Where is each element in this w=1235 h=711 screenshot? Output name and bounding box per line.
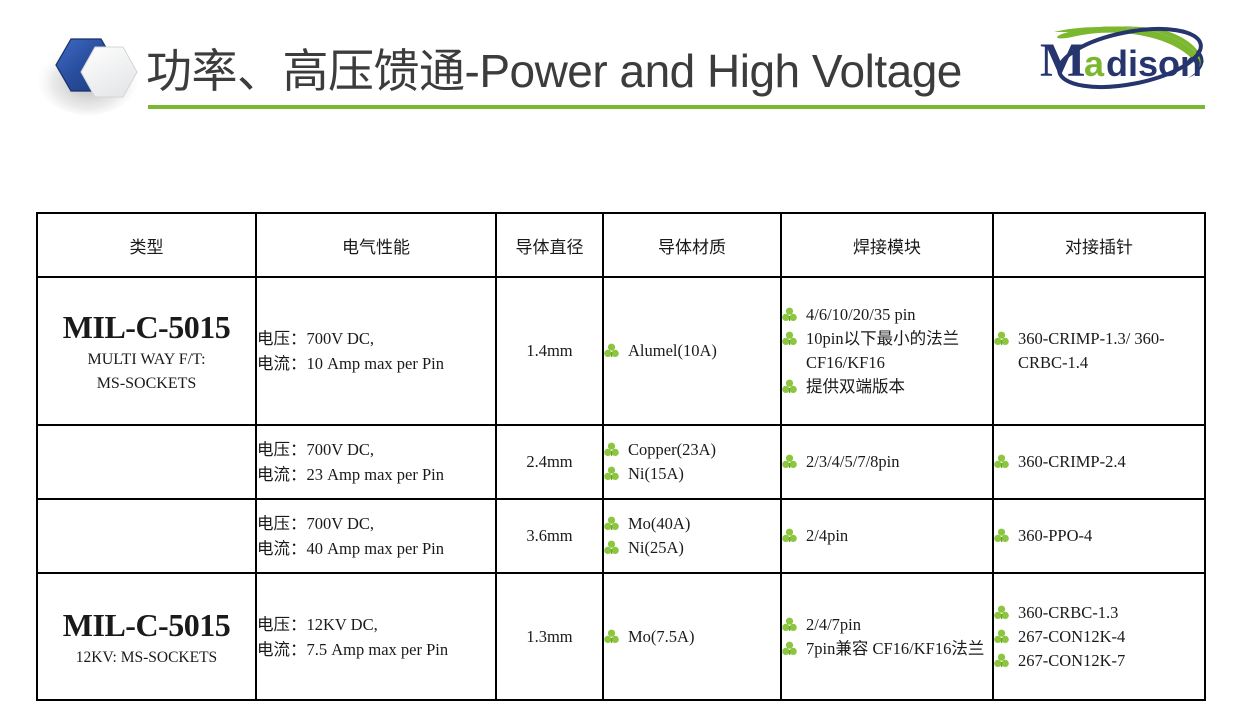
column-header-material: 导体材质	[603, 213, 781, 277]
clover-bullet-icon	[994, 653, 1009, 669]
list-item: Ni(25A)	[604, 536, 780, 560]
clover-bullet-icon	[782, 379, 797, 395]
voltage-value: 700V DC,	[307, 440, 375, 459]
clover-bullet-icon	[994, 605, 1009, 621]
type-subtitle-line1: 12KV: MS-SOCKETS	[38, 647, 255, 668]
voltage-label: 电压：	[257, 615, 307, 634]
clover-bullet-icon	[782, 641, 797, 657]
list-item: 2/4pin	[782, 524, 992, 548]
current-value: 23 Amp max per Pin	[307, 465, 445, 484]
list-item-text: Copper(23A)	[628, 438, 780, 462]
svg-text:dison: dison	[1106, 43, 1202, 84]
list-item-text: 7pin兼容 CF16/KF16法兰	[806, 637, 992, 661]
cell-diameter: 3.6mm	[496, 499, 603, 573]
table-header-row: 类型 电气性能 导体直径 导体材质 焊接模块 对接插针	[37, 213, 1205, 277]
list-item: 7pin兼容 CF16/KF16法兰	[782, 637, 992, 661]
slide-header: 功率、高压馈通-Power and High Voltage M a dison	[0, 0, 1235, 140]
cell-material: Alumel(10A)	[603, 277, 781, 425]
type-model: MIL-C-5015	[38, 606, 255, 644]
mating-pin-list: 360-PPO-4	[994, 524, 1204, 548]
list-item: 267-CON12K-4	[994, 625, 1204, 649]
material-list: Copper(23A) Ni(15A)	[604, 438, 780, 486]
weld-module-list: 2/4/7pin 7pin兼容 CF16/KF16法兰	[782, 613, 992, 661]
list-item-text: Ni(15A)	[628, 462, 780, 486]
current-label: 电流：	[257, 640, 307, 659]
svg-text:M: M	[1040, 34, 1085, 87]
list-item: Mo(40A)	[604, 512, 780, 536]
column-header-weld: 焊接模块	[781, 213, 993, 277]
list-item-text: 267-CON12K-7	[1018, 649, 1204, 673]
table-row: 电压：700V DC, 电流：23 Amp max per Pin 2.4mm …	[37, 425, 1205, 499]
cell-mating-pin: 360-CRBC-1.3 267-CON12K-4 267-CON12K-7	[993, 573, 1205, 700]
list-item: Ni(15A)	[604, 462, 780, 486]
material-list: Mo(7.5A)	[604, 625, 780, 649]
cell-weld-module: 2/3/4/5/7/8pin	[781, 425, 993, 499]
list-item-text: Ni(25A)	[628, 536, 780, 560]
list-item-text: 4/6/10/20/35 pin	[806, 303, 992, 327]
current-value: 40 Amp max per Pin	[307, 539, 445, 558]
cell-material: Copper(23A) Ni(15A)	[603, 425, 781, 499]
list-item-text: 360-PPO-4	[1018, 524, 1204, 548]
list-item: 10pin以下最小的法兰CF16/KF16	[782, 327, 992, 375]
list-item: 360-PPO-4	[994, 524, 1204, 548]
cell-weld-module: 4/6/10/20/35 pin 10pin以下最小的法兰CF16/KF16 提…	[781, 277, 993, 425]
list-item-text: 提供双端版本	[806, 375, 992, 399]
clover-bullet-icon	[782, 617, 797, 633]
cell-weld-module: 2/4pin	[781, 499, 993, 573]
list-item-text: 2/4/7pin	[806, 613, 992, 637]
mating-pin-list: 360-CRIMP-1.3/ 360-CRBC-1.4	[994, 327, 1204, 375]
material-list: Mo(40A) Ni(25A)	[604, 512, 780, 560]
type-model: MIL-C-5015	[38, 308, 255, 346]
table-row: MIL-C-5015 MULTI WAY F/T: MS-SOCKETS 电压：…	[37, 277, 1205, 425]
voltage-value: 700V DC,	[307, 514, 375, 533]
clover-bullet-icon	[782, 307, 797, 323]
list-item: 2/3/4/5/7/8pin	[782, 450, 992, 474]
clover-bullet-icon	[604, 343, 619, 359]
current-label: 电流：	[257, 354, 307, 373]
voltage-label: 电压：	[257, 329, 307, 348]
cell-electrical: 电压：700V DC, 电流：10 Amp max per Pin	[256, 277, 496, 425]
madison-brand-logo: M a dison	[1032, 22, 1210, 98]
voltage-line: 电压：700V DC,	[257, 326, 495, 351]
cell-electrical: 电压：12KV DC, 电流：7.5 Amp max per Pin	[256, 573, 496, 700]
list-item-text: 267-CON12K-4	[1018, 625, 1204, 649]
voltage-label: 电压：	[257, 514, 307, 533]
column-header-type: 类型	[37, 213, 256, 277]
hexagon-logo-icon	[38, 33, 148, 115]
current-line: 电流：40 Amp max per Pin	[257, 536, 495, 561]
list-item-text: 2/3/4/5/7/8pin	[806, 450, 992, 474]
voltage-line: 电压：700V DC,	[257, 437, 495, 462]
list-item-text: Alumel(10A)	[628, 339, 780, 363]
cell-material: Mo(7.5A)	[603, 573, 781, 700]
voltage-line: 电压：12KV DC,	[257, 612, 495, 637]
cell-diameter: 1.3mm	[496, 573, 603, 700]
list-item: Mo(7.5A)	[604, 625, 780, 649]
weld-module-list: 4/6/10/20/35 pin 10pin以下最小的法兰CF16/KF16 提…	[782, 303, 992, 399]
cell-diameter: 2.4mm	[496, 425, 603, 499]
weld-module-list: 2/4pin	[782, 524, 992, 548]
list-item-text: 2/4pin	[806, 524, 992, 548]
clover-bullet-icon	[994, 528, 1009, 544]
material-list: Alumel(10A)	[604, 339, 780, 363]
clover-bullet-icon	[782, 331, 797, 347]
list-item: 提供双端版本	[782, 375, 992, 399]
clover-bullet-icon	[604, 466, 619, 482]
cell-mating-pin: 360-CRIMP-1.3/ 360-CRBC-1.4	[993, 277, 1205, 425]
voltage-label: 电压：	[257, 440, 307, 459]
mating-pin-list: 360-CRBC-1.3 267-CON12K-4 267-CON12K-7	[994, 601, 1204, 673]
list-item: 4/6/10/20/35 pin	[782, 303, 992, 327]
list-item-text: 360-CRBC-1.3	[1018, 601, 1204, 625]
cell-diameter: 1.4mm	[496, 277, 603, 425]
clover-bullet-icon	[994, 629, 1009, 645]
weld-module-list: 2/3/4/5/7/8pin	[782, 450, 992, 474]
list-item: 360-CRIMP-2.4	[994, 450, 1204, 474]
current-value: 7.5 Amp max per Pin	[307, 640, 449, 659]
table-row: MIL-C-5015 12KV: MS-SOCKETS 电压：12KV DC, …	[37, 573, 1205, 700]
current-label: 电流：	[257, 539, 307, 558]
list-item: Alumel(10A)	[604, 339, 780, 363]
cell-mating-pin: 360-PPO-4	[993, 499, 1205, 573]
voltage-value: 12KV DC,	[307, 615, 378, 634]
clover-bullet-icon	[782, 528, 797, 544]
clover-bullet-icon	[604, 516, 619, 532]
list-item-text: Mo(7.5A)	[628, 625, 780, 649]
clover-bullet-icon	[994, 331, 1009, 347]
cell-mating-pin: 360-CRIMP-2.4	[993, 425, 1205, 499]
voltage-line: 电压：700V DC,	[257, 511, 495, 536]
cell-material: Mo(40A) Ni(25A)	[603, 499, 781, 573]
column-header-mating-pin: 对接插针	[993, 213, 1205, 277]
cell-type	[37, 499, 256, 573]
clover-bullet-icon	[782, 454, 797, 470]
clover-bullet-icon	[604, 629, 619, 645]
cell-type: MIL-C-5015 MULTI WAY F/T: MS-SOCKETS	[37, 277, 256, 425]
list-item-text: 10pin以下最小的法兰CF16/KF16	[806, 327, 992, 375]
page-title: 功率、高压馈通-Power and High Voltage	[146, 40, 1046, 106]
list-item: Copper(23A)	[604, 438, 780, 462]
current-value: 10 Amp max per Pin	[307, 354, 445, 373]
title-divider	[148, 105, 1205, 109]
list-item-text: Mo(40A)	[628, 512, 780, 536]
cell-type: MIL-C-5015 12KV: MS-SOCKETS	[37, 573, 256, 700]
cell-electrical: 电压：700V DC, 电流：40 Amp max per Pin	[256, 499, 496, 573]
list-item: 2/4/7pin	[782, 613, 992, 637]
type-subtitle-line2: MS-SOCKETS	[38, 373, 255, 394]
column-header-diameter: 导体直径	[496, 213, 603, 277]
table-row: 电压：700V DC, 电流：40 Amp max per Pin 3.6mm …	[37, 499, 1205, 573]
type-subtitle-line1: MULTI WAY F/T:	[38, 349, 255, 370]
cell-electrical: 电压：700V DC, 电流：23 Amp max per Pin	[256, 425, 496, 499]
cell-type	[37, 425, 256, 499]
current-label: 电流：	[257, 465, 307, 484]
column-header-electrical: 电气性能	[256, 213, 496, 277]
list-item: 360-CRIMP-1.3/ 360-CRBC-1.4	[994, 327, 1204, 375]
current-line: 电流：10 Amp max per Pin	[257, 351, 495, 376]
clover-bullet-icon	[604, 540, 619, 556]
mating-pin-list: 360-CRIMP-2.4	[994, 450, 1204, 474]
list-item: 267-CON12K-7	[994, 649, 1204, 673]
list-item-text: 360-CRIMP-2.4	[1018, 450, 1204, 474]
list-item-text: 360-CRIMP-1.3/ 360-CRBC-1.4	[1018, 327, 1204, 375]
current-line: 电流：23 Amp max per Pin	[257, 462, 495, 487]
cell-weld-module: 2/4/7pin 7pin兼容 CF16/KF16法兰	[781, 573, 993, 700]
list-item: 360-CRBC-1.3	[994, 601, 1204, 625]
clover-bullet-icon	[604, 442, 619, 458]
current-line: 电流：7.5 Amp max per Pin	[257, 637, 495, 662]
clover-bullet-icon	[994, 454, 1009, 470]
svg-text:a: a	[1084, 43, 1105, 84]
voltage-value: 700V DC,	[307, 329, 375, 348]
specification-table: 类型 电气性能 导体直径 导体材质 焊接模块 对接插针 MIL-C-5015 M…	[36, 212, 1206, 701]
